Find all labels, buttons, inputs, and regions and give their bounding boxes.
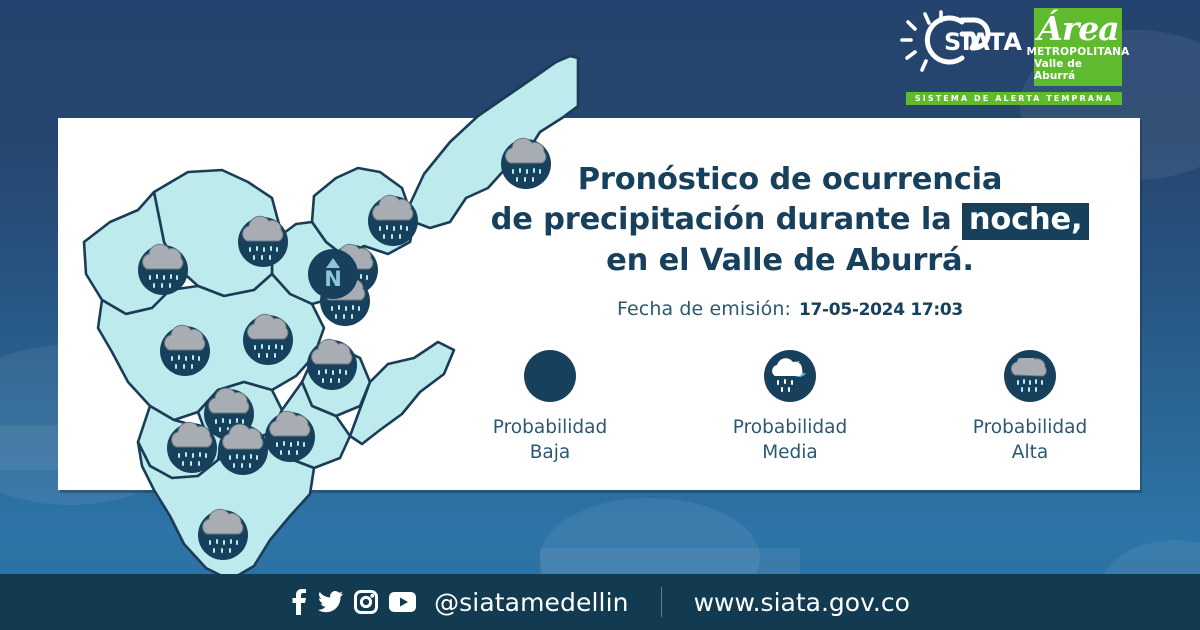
map-region-east-tail <box>350 342 454 444</box>
website-url[interactable]: www.siata.gov.co <box>694 588 910 617</box>
title-line-2-text: de precipitación durante la <box>491 202 952 237</box>
title-line-1: Pronóstico de ocurrencia <box>470 160 1110 200</box>
emission-date-value: 17-05-2024 17:03 <box>799 300 963 320</box>
emission-date: Fecha de emisión: 17-05-2024 17:03 <box>470 298 1110 320</box>
cloud-rain-icon <box>1004 350 1056 402</box>
compass-rose: N <box>308 249 358 299</box>
cloud-rain-moon-icon <box>764 350 816 402</box>
legend-media-line2: Media <box>762 442 818 463</box>
forecast-content: Pronóstico de ocurrencia de precipitació… <box>470 160 1110 466</box>
footer-content: @siatamedellin www.siata.gov.co <box>290 587 910 617</box>
siata-tagline-bar: SISTEMA DE ALERTA TEMPRANA <box>906 92 1122 105</box>
emission-date-label: Fecha de emisión: <box>617 298 791 320</box>
footer-bar: @siatamedellin www.siata.gov.co <box>0 574 1200 630</box>
legend-label-baja: Probabilidad Baja <box>493 415 607 466</box>
legend-label-media: Probabilidad Media <box>733 415 847 466</box>
probability-legend: Probabilidad Baja <box>470 350 1110 466</box>
social-icons <box>290 589 416 615</box>
area-logo-line2: Valle de Aburrá <box>1034 58 1122 82</box>
siata-tagline-text: SISTEMA DE ALERTA TEMPRANA <box>915 94 1113 103</box>
legend-alta-line2: Alta <box>1012 442 1048 463</box>
area-logo-line1: METROPOLITANA <box>1027 47 1130 58</box>
title-line-2: de precipitación durante la noche, <box>470 200 1110 240</box>
legend-baja-line1: Probabilidad <box>493 417 607 438</box>
legend-item-alta: Probabilidad Alta <box>959 350 1101 466</box>
facebook-icon[interactable] <box>290 589 307 615</box>
legend-media-line1: Probabilidad <box>733 417 847 438</box>
page-title: Pronóstico de ocurrencia de precipitació… <box>470 160 1110 281</box>
legend-item-media: Probabilidad Media <box>719 350 861 466</box>
svg-text:SIATA: SIATA <box>944 28 1023 56</box>
legend-baja-line2: Baja <box>530 442 571 463</box>
moon-icon <box>524 350 576 402</box>
siata-logo: SIATA <box>900 8 1028 86</box>
instagram-icon[interactable] <box>354 590 378 614</box>
social-handle[interactable]: @siatamedellin <box>434 588 628 617</box>
infographic-root: SIATA Área METROPOLITANA Valle de Aburrá… <box>0 0 1200 630</box>
area-logo-script: Área <box>1037 12 1118 45</box>
logo-group: SIATA Área METROPOLITANA Valle de Aburrá <box>900 8 1122 86</box>
area-metropolitana-logo: Área METROPOLITANA Valle de Aburrá <box>1034 8 1122 86</box>
legend-alta-line1: Probabilidad <box>973 417 1087 438</box>
youtube-icon[interactable] <box>389 592 416 612</box>
title-line-3: en el Valle de Aburrá. <box>470 241 1110 281</box>
footer-divider <box>661 587 662 617</box>
compass-label: N <box>324 267 342 291</box>
legend-item-baja: Probabilidad Baja <box>479 350 621 466</box>
twitter-icon[interactable] <box>318 589 343 615</box>
siata-logo-mark: SIATA <box>900 8 1028 86</box>
title-highlight-noche: noche, <box>962 203 1090 240</box>
legend-label-alta: Probabilidad Alta <box>973 415 1087 466</box>
